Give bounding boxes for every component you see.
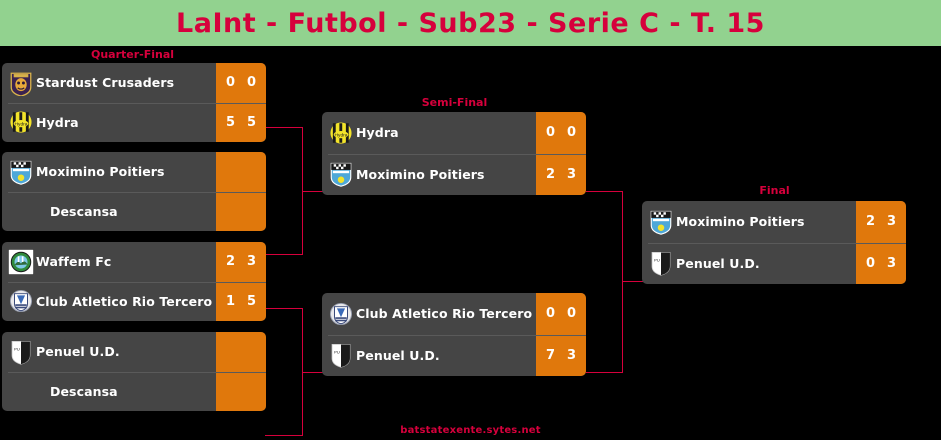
team-info: Hydra Hydra	[322, 120, 536, 146]
score-box: 5 5	[216, 103, 266, 143]
score-leg2: 3	[885, 214, 899, 229]
tournament-bracket: Quarter-Final Semi-Final Final	[0, 46, 941, 440]
team-name: Descansa	[50, 204, 118, 219]
connector-sf2-final-out	[586, 372, 622, 373]
team-info: PU Penuel U.D.	[322, 342, 536, 368]
stardust-crusaders-crest-icon	[8, 70, 34, 96]
moximino-poitiers-crest-icon	[328, 161, 354, 187]
team-row[interactable]: Club Atletico Rio Tercero 0 0	[322, 293, 586, 335]
team-info: Waffem Fc	[2, 249, 216, 275]
team-name: Penuel U.D.	[356, 348, 440, 363]
team-name: Club Atletico Rio Tercero	[356, 306, 532, 321]
team-row[interactable]: PU Penuel U.D. 7 3	[322, 335, 586, 377]
hydra-crest-icon: Hydra	[328, 120, 354, 146]
score-leg1: 1	[224, 294, 238, 309]
connector-sf1-final-out	[586, 191, 622, 192]
connector-final-join	[622, 191, 623, 373]
team-info: Descansa	[2, 378, 216, 404]
team-row[interactable]: Hydra Hydra 0 0	[322, 112, 586, 154]
score-box	[216, 192, 266, 232]
score-leg2: 3	[565, 348, 579, 363]
penuel-ud-crest-icon: PU	[8, 339, 34, 365]
match-card-qf-1[interactable]: Stardust Crusaders 0 0 Hydra	[2, 63, 266, 142]
score-box: 2 3	[856, 201, 906, 243]
team-row[interactable]: Stardust Crusaders 0 0	[2, 63, 266, 103]
score-box	[216, 152, 266, 192]
score-leg1: 5	[224, 115, 238, 130]
svg-text:Hydra: Hydra	[15, 122, 28, 128]
score-box: 0 0	[536, 112, 586, 154]
team-row[interactable]: Moximino Poitiers 2 3	[322, 154, 586, 196]
svg-text:PU: PU	[654, 258, 660, 263]
team-row[interactable]: Waffem Fc 2 3	[2, 242, 266, 282]
score-leg2: 3	[885, 256, 899, 271]
team-info: Descansa	[2, 198, 216, 224]
score-leg2: 0	[565, 306, 579, 321]
score-box	[216, 332, 266, 372]
connector-sf2-in	[302, 372, 323, 373]
connector-qf3-out	[265, 308, 302, 309]
team-info: Club Atletico Rio Tercero	[2, 288, 216, 314]
team-name: Hydra	[356, 125, 399, 140]
team-name: Stardust Crusaders	[36, 75, 174, 90]
footer-site-link[interactable]: batstatexente.sytes.net	[0, 425, 941, 436]
score-leg2: 5	[245, 115, 259, 130]
score-leg2: 3	[565, 167, 579, 182]
stage-label-quarter-final: Quarter-Final	[0, 48, 265, 61]
team-row[interactable]: Descansa	[2, 192, 266, 232]
score-leg1: 0	[224, 75, 238, 90]
score-leg1: 2	[864, 214, 878, 229]
team-name: Moximino Poitiers	[36, 164, 165, 179]
stage-label-semi-final: Semi-Final	[322, 96, 587, 109]
team-name: Waffem Fc	[36, 254, 111, 269]
team-info: PU Penuel U.D.	[642, 250, 856, 276]
team-info: Hydra Hydra	[2, 109, 216, 135]
hydra-crest-icon: Hydra	[8, 109, 34, 135]
match-card-sf-2[interactable]: Club Atletico Rio Tercero 0 0 PU Penuel …	[322, 293, 586, 376]
connector-qf2-out	[265, 254, 302, 255]
score-leg1: 7	[544, 348, 558, 363]
score-box: 1 5	[216, 282, 266, 322]
score-leg1: 2	[224, 254, 238, 269]
no-crest-icon	[8, 198, 34, 224]
score-box: 0 0	[216, 63, 266, 103]
team-name: Club Atletico Rio Tercero	[36, 294, 212, 309]
team-info: Moximino Poitiers	[2, 159, 216, 185]
score-box: 0 3	[856, 243, 906, 285]
score-leg2: 5	[245, 294, 259, 309]
no-crest-icon	[8, 378, 34, 404]
score-box: 2 3	[536, 154, 586, 196]
connector-sf1-in	[302, 191, 323, 192]
penuel-ud-crest-icon: PU	[328, 342, 354, 368]
club-atletico-rio-tercero-crest-icon	[8, 288, 34, 314]
penuel-ud-crest-icon: PU	[648, 250, 674, 276]
team-row[interactable]: Moximino Poitiers 2 3	[642, 201, 906, 243]
score-box: 0 0	[536, 293, 586, 335]
team-info: Club Atletico Rio Tercero	[322, 301, 536, 327]
score-leg1: 0	[544, 125, 558, 140]
score-leg2: 3	[245, 254, 259, 269]
team-name: Moximino Poitiers	[676, 214, 805, 229]
connector-final-in	[622, 281, 643, 282]
stage-label-final: Final	[642, 184, 907, 197]
page-title: LaInt - Futbol - Sub23 - Serie C - T. 15	[176, 8, 765, 39]
match-card-qf-3[interactable]: Waffem Fc 2 3 Club Atletico Rio T	[2, 242, 266, 321]
score-box: 2 3	[216, 242, 266, 282]
match-card-sf-1[interactable]: Hydra Hydra 0 0	[322, 112, 586, 195]
team-name: Hydra	[36, 115, 79, 130]
score-leg2: 0	[245, 75, 259, 90]
team-row[interactable]: Club Atletico Rio Tercero 1 5	[2, 282, 266, 322]
score-leg1: 2	[544, 167, 558, 182]
score-box: 7 3	[536, 335, 586, 377]
team-row[interactable]: PU Penuel U.D. 0 3	[642, 243, 906, 285]
svg-text:PU: PU	[14, 346, 20, 351]
score-leg1: 0	[544, 306, 558, 321]
svg-text:PU: PU	[334, 350, 340, 355]
team-info: Stardust Crusaders	[2, 70, 216, 96]
moximino-poitiers-crest-icon	[8, 159, 34, 185]
team-row[interactable]: PU Penuel U.D.	[2, 332, 266, 372]
match-card-qf-4[interactable]: PU Penuel U.D. Descansa	[2, 332, 266, 411]
team-info: PU Penuel U.D.	[2, 339, 216, 365]
team-row[interactable]: Hydra Hydra 5 5	[2, 103, 266, 143]
moximino-poitiers-crest-icon	[648, 209, 674, 235]
team-info: Moximino Poitiers	[642, 209, 856, 235]
svg-text:Hydra: Hydra	[335, 132, 348, 138]
score-leg1: 0	[864, 256, 878, 271]
waffem-fc-crest-icon	[8, 249, 34, 275]
score-box	[216, 372, 266, 412]
match-card-final[interactable]: Moximino Poitiers 2 3 PU Penuel U.D. 0	[642, 201, 906, 284]
connector-qf1-out	[265, 127, 302, 128]
club-atletico-rio-tercero-crest-icon	[328, 301, 354, 327]
page-header: LaInt - Futbol - Sub23 - Serie C - T. 15	[0, 0, 941, 46]
team-name: Penuel U.D.	[36, 344, 120, 359]
team-info: Moximino Poitiers	[322, 161, 536, 187]
match-card-qf-2[interactable]: Moximino Poitiers Descansa	[2, 152, 266, 231]
score-leg2: 0	[565, 125, 579, 140]
team-name: Descansa	[50, 384, 118, 399]
team-name: Moximino Poitiers	[356, 167, 485, 182]
team-row[interactable]: Descansa	[2, 372, 266, 412]
team-row[interactable]: Moximino Poitiers	[2, 152, 266, 192]
team-name: Penuel U.D.	[676, 256, 760, 271]
